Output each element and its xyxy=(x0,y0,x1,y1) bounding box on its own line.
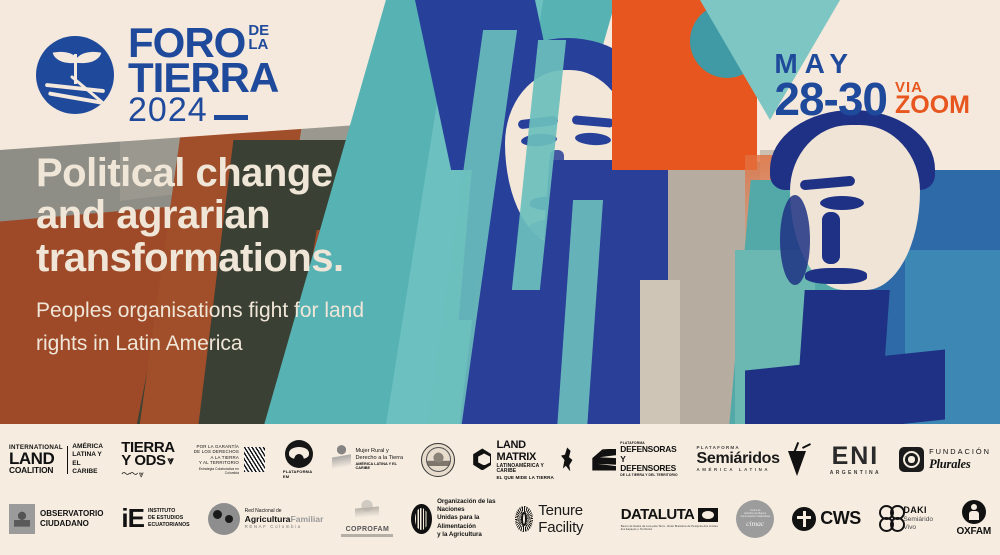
partner-semiaridos: PLATAFORMA Semiáridos AMÉRICA LATINA xyxy=(687,443,820,477)
wave-icon: 〜〜 ⩔ xyxy=(121,470,174,478)
partner-defensoras-y-defensores: PLATAFORMA DEFENSORAS Y DEFENSORES DE LA… xyxy=(583,442,687,478)
land-matrix-line-2: LATINOAMÉRICA Y CARIBE xyxy=(496,464,556,475)
ie-monogram: iE xyxy=(121,508,144,528)
tyo-line-2: Y ODS xyxy=(121,454,165,468)
plurales-line-1: FUNDACIÓN xyxy=(929,448,991,456)
cimac-line-3: Comunicación Colaborativa xyxy=(741,515,770,518)
defensoras-line-3: DE LA TIERRA Y DEL TERRITORIO xyxy=(620,474,678,478)
partner-fundacion-plurales: FUNDACIÓN Plurales xyxy=(890,447,1000,472)
partner-por-la-garantia: POR LA GARANTÍA DE LOS DERECHOS A LA TIE… xyxy=(184,444,274,476)
observatorio-icon xyxy=(9,504,35,534)
logo-year: 2024 xyxy=(128,93,208,127)
ie-line-3: ECUATORIANOS xyxy=(148,522,190,529)
oxfam-label: OXFAM xyxy=(956,526,991,537)
partner-mujer-rural: Mujer Rural y Derecho a la Tierra AMÉRIC… xyxy=(323,444,412,476)
partner-cws: CWS xyxy=(783,507,870,531)
fao-emblem-icon xyxy=(411,504,432,534)
partner-renaf: Red Nacional de AgriculturaFamiliar RENA… xyxy=(199,503,333,535)
ilc-region-1: AMÉRICA xyxy=(72,443,103,451)
event-platform: ZOOM xyxy=(895,93,970,118)
headline-line-2: and agrarian xyxy=(36,194,466,236)
poster-root: FORO DE LA TIERRA 2024 MAY 28-30 VIA ZOO… xyxy=(0,0,1000,555)
ie-line-1: INSTITUTO xyxy=(148,508,190,515)
portrait-man-eye xyxy=(820,196,864,210)
semiaridos-line-3: AMÉRICA LATINA xyxy=(696,468,779,473)
fao-line-2: Unidas para la Alimentación xyxy=(437,514,497,530)
partner-row-2: OBSERVATORIO CIUDADANO iE INSTITUTO DE E… xyxy=(0,489,1000,549)
defensoras-mark-icon xyxy=(592,449,616,471)
ilc-divider xyxy=(67,446,68,474)
semiaridos-line-2: Semiáridos xyxy=(696,451,779,468)
partner-tenure-facility: Tenure Facility xyxy=(506,502,611,536)
garantia-line-5: Estrategia Colaborativa en Colombia xyxy=(193,467,239,475)
renaf-line-2b: Familiar xyxy=(290,514,323,524)
cube-icon xyxy=(473,448,491,470)
eni-line-2: ARGENTINA xyxy=(830,471,881,476)
fao-line-1: Organización de las Naciones xyxy=(437,498,497,514)
latin-america-map-icon xyxy=(561,447,574,471)
headline-block: Political change and agrarian transforma… xyxy=(36,152,466,360)
portrait-man-nose xyxy=(822,212,840,264)
mujer-rural-line-2: Derecho a la Tierra xyxy=(356,455,404,462)
partner-fao: Organización de las Naciones Unidas para… xyxy=(402,498,506,539)
headline-line-3: transformations. xyxy=(36,237,466,279)
woman-figure-icon xyxy=(332,444,350,476)
partner-plataforma-em: PLATAFORMA EM xyxy=(274,440,323,479)
coprofam-bar xyxy=(341,534,393,537)
ilc-coalition: COALITION xyxy=(9,466,63,474)
portrait-man-mouth xyxy=(805,268,867,284)
ilc-region-2: LATINA Y xyxy=(72,451,103,459)
headline-line-1: Political change xyxy=(36,152,466,194)
cimac-icon: Centro de Estudios de Mujeres Comunicaci… xyxy=(736,500,774,538)
partner-instituto-estudios-ecuatorianos: iE INSTITUTO DE ESTUDIOS ECUATORIANOS xyxy=(112,508,198,528)
partner-international-land-coalition: INTERNATIONAL LAND COALITION AMÉRICA LAT… xyxy=(0,443,112,475)
cws-cross-icon xyxy=(792,507,816,531)
defensoras-line-2: Y DEFENSORES xyxy=(620,455,678,474)
partner-row-1: INTERNATIONAL LAND COALITION AMÉRICA LAT… xyxy=(0,431,1000,489)
coprofam-line-1: COPROFAM xyxy=(346,526,390,533)
wheat-icon: ⩔ xyxy=(168,457,174,466)
renaf-family-icon xyxy=(208,503,240,535)
dataluta-line-2: Banco de Dados da Luta pela Terra - Rede… xyxy=(621,525,719,531)
cws-label: CWS xyxy=(820,508,861,529)
coprofam-icon xyxy=(355,500,379,526)
observatorio-line-1: OBSERVATORIO xyxy=(40,509,103,518)
partner-tierra-y-ods: TIERRA Y ODS ⩔ 〜〜 ⩔ xyxy=(112,441,183,479)
partner-logo-strip: INTERNATIONAL LAND COALITION AMÉRICA LAT… xyxy=(0,424,1000,555)
defensoras-line-1: DEFENSORAS xyxy=(620,445,678,454)
land-matrix-line-1: LAND MATRIX xyxy=(496,439,556,463)
cimac-label: cimac xyxy=(746,519,764,528)
plataforma-em-label: PLATAFORMA EM xyxy=(283,469,314,479)
dataluta-line-1: DATALUTA xyxy=(621,506,695,523)
garantia-line-2: DE LOS DERECHOS xyxy=(193,449,239,455)
partner-coprofam: COPROFAM xyxy=(332,500,402,537)
partner-eni-argentina: ENI ARGENTINA xyxy=(821,444,890,476)
plataforma-em-icon xyxy=(285,440,313,468)
ilc-region-3: EL CARIBE xyxy=(72,460,103,476)
mujer-rural-line-3: AMÉRICA LATINA Y EL CARIBE xyxy=(356,462,404,471)
land-matrix-line-3: EL QUE MIDE LA TIERRA xyxy=(496,475,556,480)
partner-cimac: Centro de Estudios de Mujeres Comunicaci… xyxy=(727,500,783,538)
partner-oxfam: OXFAM xyxy=(947,500,1000,537)
plant-field-circle-icon xyxy=(36,36,114,114)
partner-land-matrix: LAND MATRIX LATINOAMÉRICA Y CARIBE EL QU… xyxy=(464,439,583,479)
foro-de-la-tierra-logo: FORO DE LA TIERRA 2024 xyxy=(36,22,278,127)
plurales-line-2: Plurales xyxy=(929,457,991,471)
daki-rings-icon xyxy=(879,505,900,531)
subheadline-line-2: rights in Latin America xyxy=(36,328,466,361)
circular-seal-icon xyxy=(421,443,455,477)
logo-la: LA xyxy=(248,38,269,52)
renaf-line-3: RENAF Colombia xyxy=(245,524,324,529)
brazil-flag-icon xyxy=(698,508,718,522)
renaf-line-2: Agricultura xyxy=(245,514,291,524)
fao-line-3: y la Agricultura xyxy=(437,531,497,539)
striped-square-icon xyxy=(244,447,265,472)
partner-dataluta: DATALUTA Banco de Dados da Luta pela Ter… xyxy=(612,506,728,531)
observatorio-line-2: CIUDADANO xyxy=(40,519,103,528)
ie-line-2: DE ESTUDIOS xyxy=(148,515,190,522)
subheadline-line-1: Peoples organisations fight for land xyxy=(36,295,466,328)
tenure-facility-label: Tenure Facility xyxy=(538,502,602,536)
event-days: 28-30 xyxy=(774,78,887,122)
plurales-square-icon xyxy=(899,447,924,472)
eni-line-1: ENI xyxy=(830,444,881,469)
logo-underline xyxy=(214,115,248,120)
event-date-block: MAY 28-30 VIA ZOOM xyxy=(774,48,970,122)
mujer-rural-line-1: Mujer Rural y xyxy=(356,448,404,455)
daki-line-1: DAKI xyxy=(903,505,938,516)
partner-observatorio-ciudadano: OBSERVATORIO CIUDADANO xyxy=(0,504,112,534)
ilc-land: LAND xyxy=(9,451,63,466)
partner-seal-emblem xyxy=(412,443,464,477)
oxfam-person-icon xyxy=(962,500,986,524)
tenure-facility-icon xyxy=(515,506,533,532)
semiaridos-map-icon xyxy=(782,443,812,477)
garantia-line-4: Y AL TERRITORIO xyxy=(193,460,239,466)
shape-grid-3 xyxy=(640,280,680,424)
partner-daki-semiarido-vivo: DAKI Semiárido Vivo xyxy=(870,505,948,532)
daki-line-2: Semiárido Vivo xyxy=(903,516,938,532)
